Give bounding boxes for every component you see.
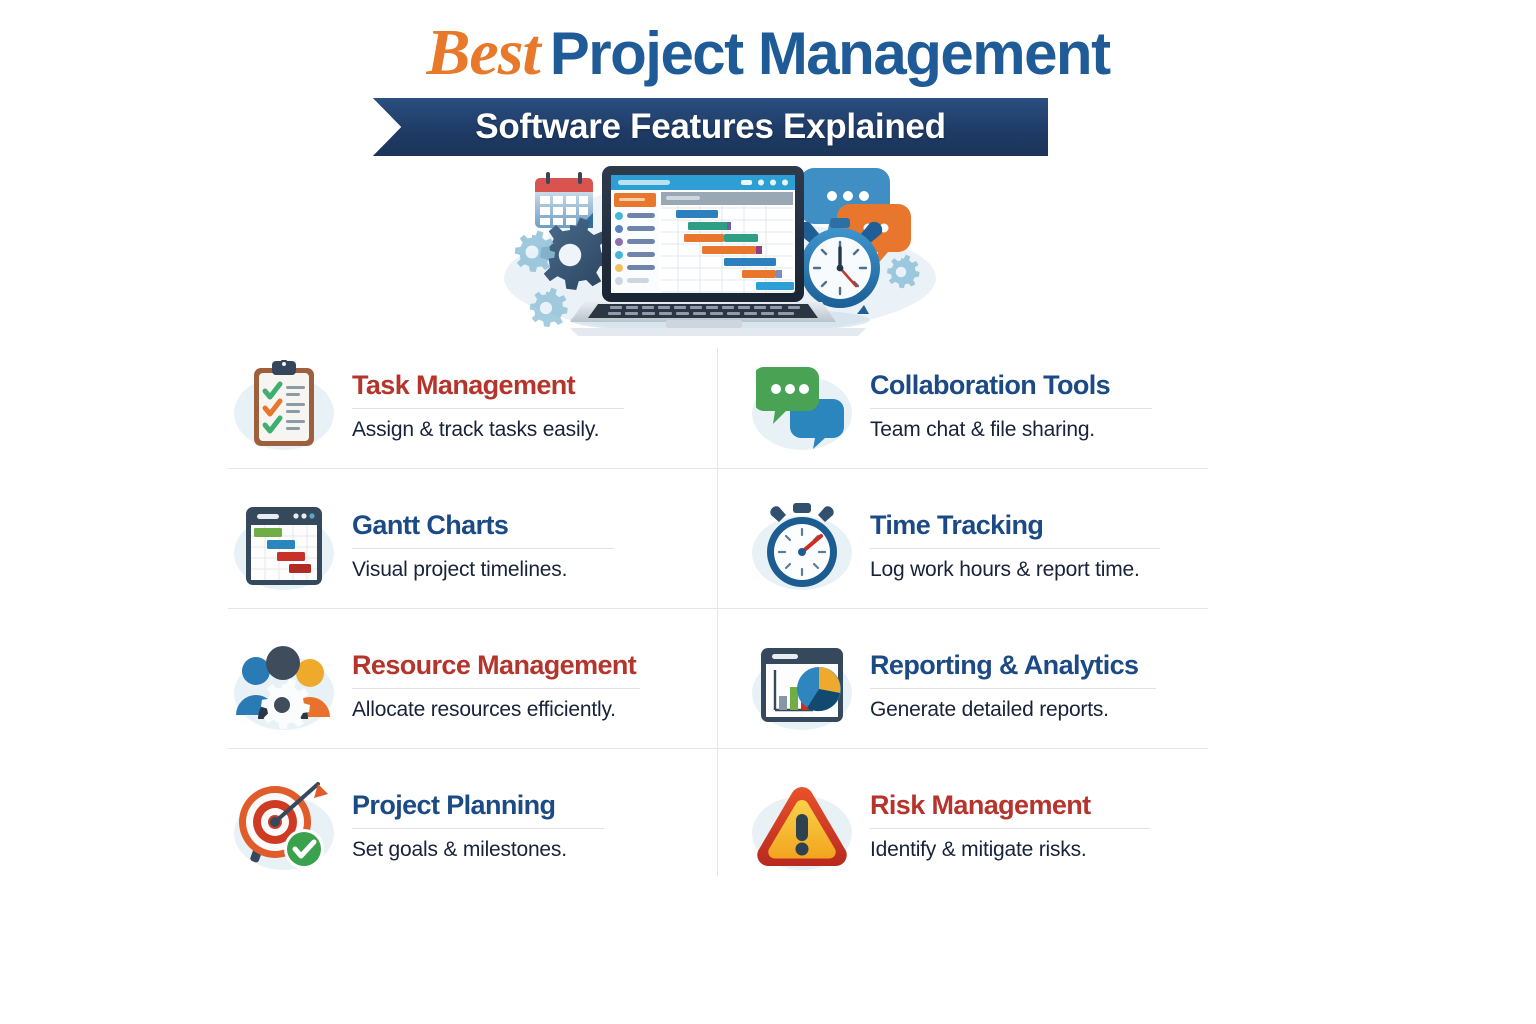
grid-horizontal-divider-3	[228, 748, 1208, 749]
target-check-icon	[228, 770, 340, 882]
feature-text: Resource Management Allocate resources e…	[340, 648, 698, 724]
feature-text: Risk Management Identify & mitigate risk…	[858, 788, 1216, 864]
feature-underline	[870, 548, 1160, 549]
feature-title: Task Management	[352, 368, 698, 402]
feature-underline	[870, 828, 1150, 829]
gantt-window-icon	[228, 490, 340, 602]
feature-title: Reporting & Analytics	[870, 648, 1216, 682]
people-gear-icon	[228, 630, 340, 742]
feature-text: Gantt Charts Visual project timelines.	[340, 508, 698, 584]
feature-title: Resource Management	[352, 648, 698, 682]
feature-item-task-management[interactable]: Task Management Assign & track tasks eas…	[228, 344, 698, 468]
feature-description: Identify & mitigate risks.	[870, 836, 1216, 864]
page-title: BestProject Management	[0, 14, 1536, 93]
feature-description: Log work hours & report time.	[870, 556, 1216, 584]
feature-description: Allocate resources efficiently.	[352, 696, 698, 724]
feature-item-collaboration-tools[interactable]: Collaboration Tools Team chat & file sha…	[746, 344, 1216, 468]
feature-title: Collaboration Tools	[870, 368, 1216, 402]
feature-item-gantt-charts[interactable]: Gantt Charts Visual project timelines.	[228, 484, 698, 608]
feature-description: Set goals & milestones.	[352, 836, 698, 864]
feature-text: Collaboration Tools Team chat & file sha…	[858, 368, 1216, 444]
feature-title: Project Planning	[352, 788, 698, 822]
feature-underline	[352, 688, 640, 689]
grid-horizontal-divider-2	[228, 608, 1208, 609]
stopwatch-icon	[746, 490, 858, 602]
page-header: BestProject Management	[0, 14, 1536, 93]
ribbon-label: Software Features Explained	[475, 107, 945, 147]
feature-description: Visual project timelines.	[352, 556, 698, 584]
feature-description: Team chat & file sharing.	[870, 416, 1216, 444]
feature-text: Task Management Assign & track tasks eas…	[340, 368, 698, 444]
feature-underline	[870, 408, 1152, 409]
feature-item-risk-management[interactable]: Risk Management Identify & mitigate risk…	[746, 764, 1216, 888]
feature-title: Risk Management	[870, 788, 1216, 822]
feature-underline	[352, 548, 614, 549]
feature-text: Project Planning Set goals & milestones.	[340, 788, 698, 864]
feature-item-time-tracking[interactable]: Time Tracking Log work hours & report ti…	[746, 484, 1216, 608]
charts-window-icon	[746, 630, 858, 742]
feature-item-project-planning[interactable]: Project Planning Set goals & milestones.	[228, 764, 698, 888]
grid-vertical-divider	[717, 348, 718, 876]
title-accent-word: Best	[426, 16, 539, 89]
hero-illustration	[498, 160, 942, 342]
feature-description: Generate detailed reports.	[870, 696, 1216, 724]
feature-description: Assign & track tasks easily.	[352, 416, 698, 444]
grid-horizontal-divider-1	[228, 468, 1208, 469]
subtitle-ribbon: Software Features Explained	[373, 98, 1048, 156]
ribbon-shape-front: Software Features Explained	[373, 98, 1048, 156]
feature-text: Time Tracking Log work hours & report ti…	[858, 508, 1216, 584]
feature-underline	[352, 828, 604, 829]
feature-underline	[870, 688, 1156, 689]
feature-item-reporting-analytics[interactable]: Reporting & Analytics Generate detailed …	[746, 624, 1216, 748]
feature-title: Time Tracking	[870, 508, 1216, 542]
clipboard-checklist-icon	[228, 350, 340, 462]
feature-text: Reporting & Analytics Generate detailed …	[858, 648, 1216, 724]
chat-bubbles-icon	[746, 350, 858, 462]
feature-title: Gantt Charts	[352, 508, 698, 542]
feature-underline	[352, 408, 624, 409]
title-main-words: Project Management	[550, 20, 1110, 87]
warning-triangle-icon	[746, 770, 858, 882]
feature-grid: Task Management Assign & track tasks eas…	[228, 344, 1208, 880]
feature-item-resource-management[interactable]: Resource Management Allocate resources e…	[228, 624, 698, 748]
